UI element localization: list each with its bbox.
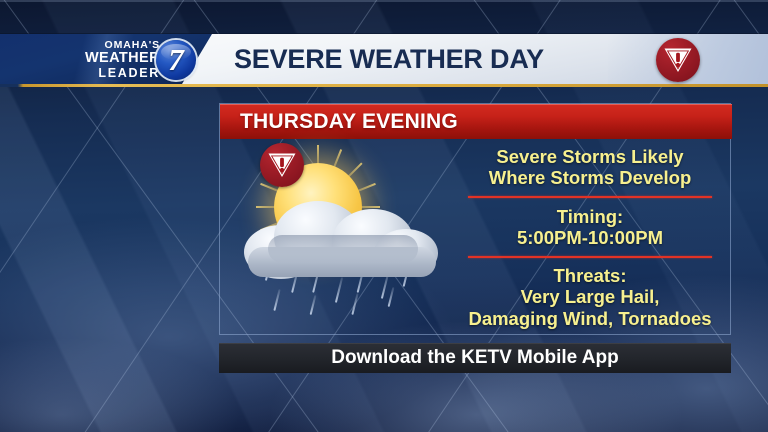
threats-line-1: Very Large Hail, [456, 286, 724, 307]
logo-line-leader: LEADER [56, 66, 160, 80]
panel-period-header: THURSDAY EVENING [220, 104, 732, 139]
outlook-line-2: Where Storms Develop [456, 167, 724, 188]
timing-label: Timing: [456, 204, 724, 227]
logo-line-weather: WEATHER [56, 51, 160, 66]
sun-behind-rain-cloud-icon [238, 143, 448, 333]
header-gold-accent-line [0, 84, 768, 87]
threats-label: Threats: [456, 264, 724, 286]
timing-value: 5:00PM-10:00PM [456, 227, 724, 248]
promo-bar[interactable]: Download the KETV Mobile App [219, 343, 731, 373]
alert-triangle-glyph [267, 152, 297, 179]
station-logo: OMAHA'S WEATHER LEADER 7 [56, 38, 206, 82]
period-label: THURSDAY EVENING [240, 110, 458, 134]
divider-timing [468, 196, 712, 198]
weather-graphic-screen: OMAHA'S WEATHER LEADER 7 SEVERE WEATHER … [0, 0, 768, 432]
promo-text: Download the KETV Mobile App [219, 343, 731, 373]
severe-weather-alert-icon [656, 38, 700, 82]
channel-number: 7 [156, 40, 196, 80]
threats-line-2: Damaging Wind, Tornadoes [456, 308, 724, 329]
outlook-line-1: Severe Storms Likely [456, 139, 724, 167]
forecast-panel: THURSDAY EVENING [219, 103, 731, 335]
cloud-shape [244, 195, 440, 281]
alert-triangle-glyph [663, 47, 693, 74]
page-title: SEVERE WEATHER DAY [234, 44, 544, 75]
severe-weather-alert-icon [260, 143, 304, 187]
channel-7-badge-icon: 7 [156, 40, 196, 80]
panel-body: Severe Storms Likely Where Storms Develo… [220, 139, 732, 336]
divider-threats [468, 256, 712, 258]
forecast-details: Severe Storms Likely Where Storms Develo… [456, 139, 724, 336]
